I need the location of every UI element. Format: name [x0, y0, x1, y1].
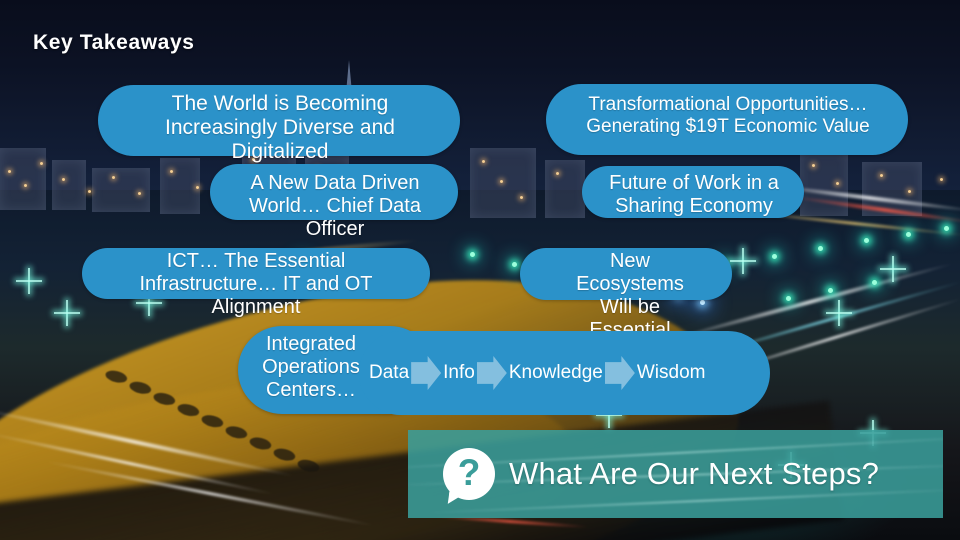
callout-pill-new-ecosystems — [520, 248, 732, 300]
building — [545, 160, 585, 218]
next-steps-text: What Are Our Next Steps? — [509, 456, 879, 492]
callout-pill-future-of-work — [582, 166, 804, 218]
arrow-right-icon — [605, 356, 635, 390]
flow-step-info: Info — [443, 362, 475, 384]
city-light — [88, 190, 91, 193]
roadside-lamp — [872, 280, 877, 285]
city-light — [40, 162, 43, 165]
callout-pill-ict-essential-infrastructure — [82, 248, 430, 299]
building — [52, 160, 86, 210]
light-flare — [742, 248, 744, 274]
city-light — [170, 170, 173, 173]
roadside-lamp — [828, 288, 833, 293]
building — [800, 150, 848, 216]
roadside-lamp — [700, 300, 705, 305]
question-speech-bubble-icon: ? — [443, 448, 495, 500]
light-flare — [892, 256, 894, 282]
city-light — [138, 192, 141, 195]
city-light — [62, 178, 65, 181]
city-light — [112, 176, 115, 179]
city-light — [520, 196, 523, 199]
city-light — [812, 164, 815, 167]
building — [470, 148, 536, 218]
question-mark-glyph: ? — [443, 448, 495, 500]
light-flare — [66, 300, 68, 326]
roadside-lamp — [818, 246, 823, 251]
city-light — [24, 184, 27, 187]
roadside-lamp — [864, 238, 869, 243]
building — [92, 168, 150, 212]
callout-pill-transformational-opportunities — [546, 84, 908, 155]
next-steps-banner: ? What Are Our Next Steps? — [408, 430, 943, 518]
flow-step-wisdom: Wisdom — [637, 362, 706, 384]
city-light — [940, 178, 943, 181]
flow-step-data: Data — [369, 362, 409, 384]
roadside-lamp — [786, 296, 791, 301]
arrow-right-icon — [477, 356, 507, 390]
city-light — [8, 170, 11, 173]
city-light — [500, 180, 503, 183]
roadside-lamp — [512, 262, 517, 267]
light-flare — [28, 268, 30, 294]
city-light — [556, 172, 559, 175]
city-light — [836, 182, 839, 185]
flow-bar: Data Info Knowledge Wisdom — [359, 331, 770, 415]
building — [0, 148, 46, 210]
city-light — [196, 186, 199, 189]
slide-canvas: Key Takeaways The World is Becoming Incr… — [0, 0, 960, 540]
roadside-lamp — [772, 254, 777, 259]
arrow-right-icon — [411, 356, 441, 390]
city-light — [880, 174, 883, 177]
city-light — [908, 190, 911, 193]
roadside-lamp — [906, 232, 911, 237]
building — [160, 158, 200, 214]
flow-step-knowledge: Knowledge — [509, 362, 603, 384]
light-flare — [838, 300, 840, 326]
callout-pill-world-diverse-digitalized — [98, 85, 460, 156]
page-title: Key Takeaways — [33, 31, 195, 55]
roadside-lamp — [470, 252, 475, 257]
city-light — [482, 160, 485, 163]
callout-pill-data-driven-world — [210, 164, 458, 220]
roadside-lamp — [944, 226, 949, 231]
city-light — [252, 158, 255, 161]
